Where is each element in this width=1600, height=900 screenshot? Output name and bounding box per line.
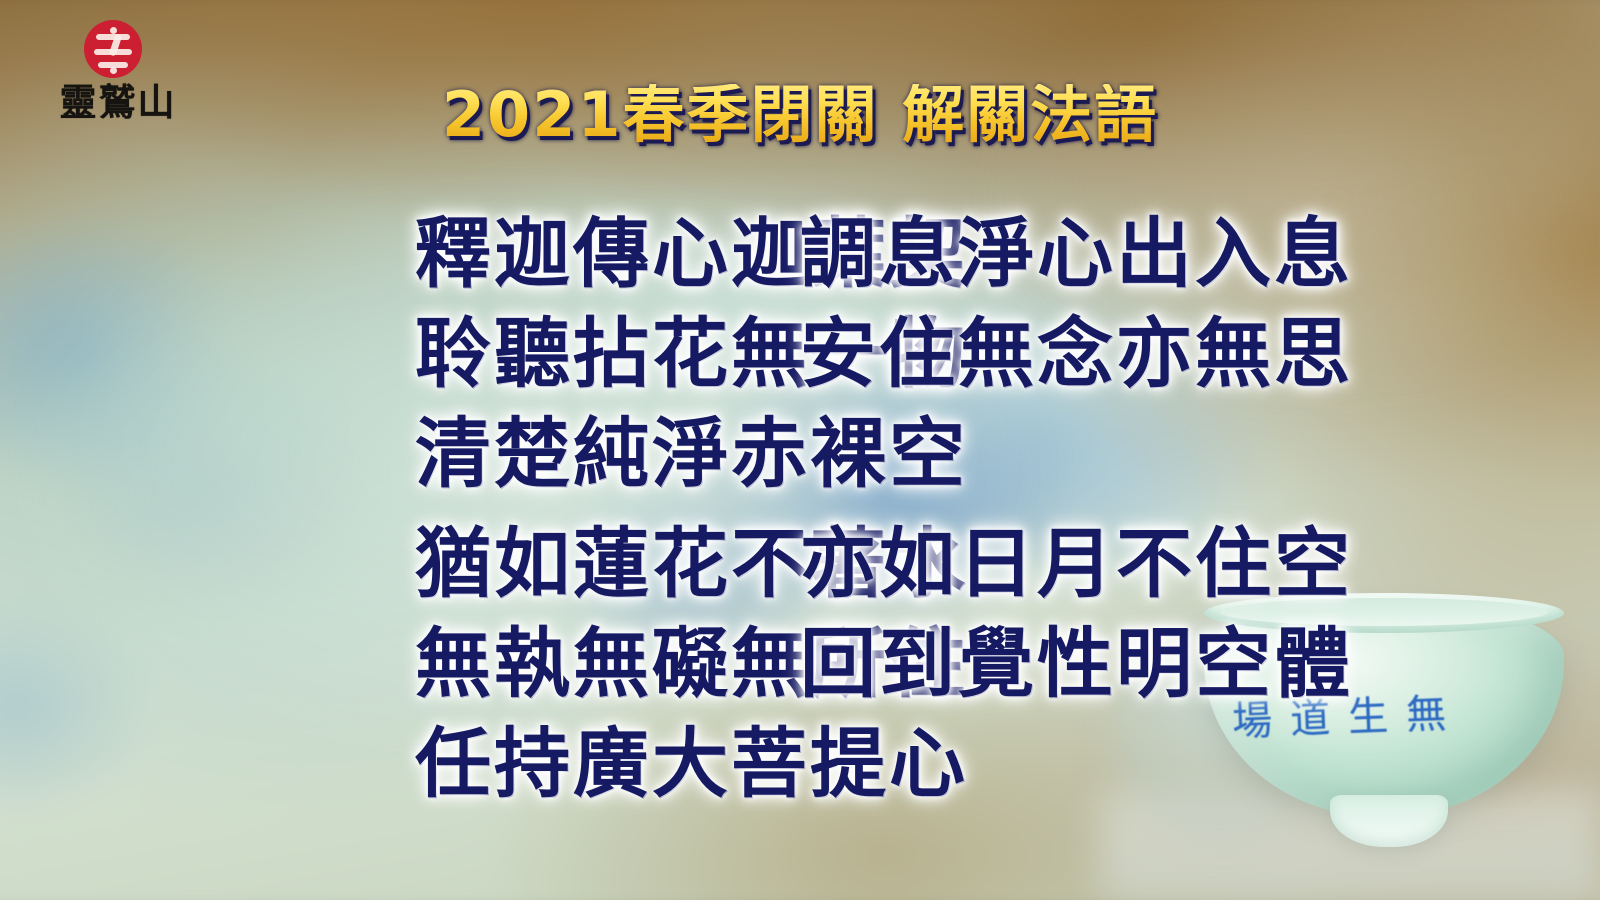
ling-jiou-mountain-emblem-icon <box>84 20 142 78</box>
verse-column-left: 任持廣大菩提心 <box>210 702 790 812</box>
verse-line: 無執無礙無所住 回到覺性明空體 <box>0 602 1600 702</box>
verse-column-right: 安住無念亦無思 <box>790 292 1390 402</box>
verse-column-right: 亦如日月不住空 <box>790 502 1390 612</box>
verse-column-left: 無執無礙無所住 <box>210 602 790 712</box>
verse-line: 聆聽拈花無一物 安住無念亦無思 <box>0 292 1600 392</box>
verse-column-right: 調息淨心出入息 <box>790 192 1390 302</box>
verse-line: 猶如蓮花不著水 亦如日月不住空 <box>0 502 1600 602</box>
verse-line: 清楚純淨赤裸空 <box>0 392 1600 492</box>
slide-canvas: 場道生無 靈鷲山 2021春季閉關 解關法語 釋迦傳心迦葉契 調息淨心出入息 聆… <box>0 0 1600 900</box>
verse-column-right: 回到覺性明空體 <box>790 602 1390 712</box>
verse-block-first: 釋迦傳心迦葉契 調息淨心出入息 聆聽拈花無一物 安住無念亦無思 清楚純淨赤裸空 <box>0 192 1600 492</box>
verse-line: 任持廣大菩提心 <box>0 702 1600 802</box>
verse-column-left: 釋迦傳心迦葉契 <box>210 192 790 302</box>
page-title: 2021春季閉關 解關法語 <box>0 84 1600 146</box>
bowl-foot <box>1330 795 1448 847</box>
verse-column-left: 聆聽拈花無一物 <box>210 292 790 402</box>
verse-column-left: 猶如蓮花不著水 <box>210 502 790 612</box>
verse-block-second: 猶如蓮花不著水 亦如日月不住空 無執無礙無所住 回到覺性明空體 任持廣大菩提心 <box>0 502 1600 802</box>
verse-line: 釋迦傳心迦葉契 調息淨心出入息 <box>0 192 1600 292</box>
verse-column-left: 清楚純淨赤裸空 <box>210 392 790 502</box>
